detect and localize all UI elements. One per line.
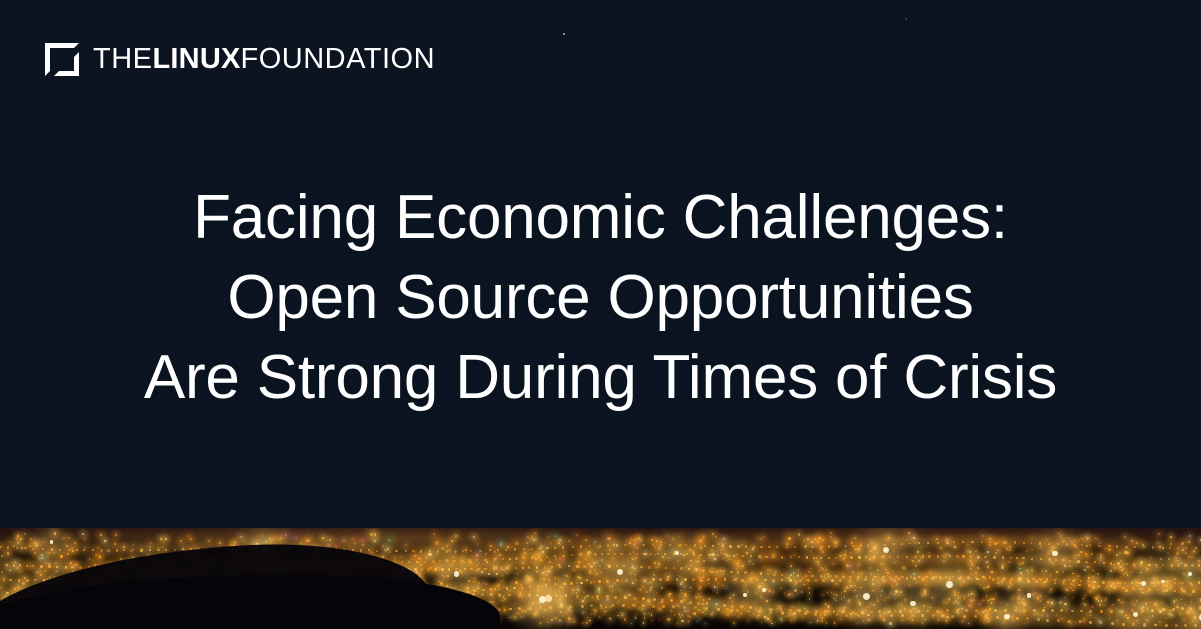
page-title-line-1: Facing Economic Challenges: [0, 178, 1201, 258]
page-title-line-3: Are Strong During Times of Crisis [0, 338, 1201, 418]
social-share-card: THELINUXFOUNDATION Facing Economic Chall… [0, 0, 1201, 629]
wordmark-foundation: FOUNDATION [241, 43, 436, 75]
wordmark-the: THE [93, 43, 153, 75]
linux-foundation-logo[interactable]: THELINUXFOUNDATION [45, 38, 435, 80]
star-icon [905, 18, 907, 20]
wordmark-linux: LINUX [153, 43, 241, 75]
page-title: Facing Economic Challenges: Open Source … [0, 178, 1201, 418]
linux-foundation-wordmark: THELINUXFOUNDATION [93, 45, 435, 74]
star-icon [563, 33, 565, 35]
page-title-line-2: Open Source Opportunities [0, 258, 1201, 338]
linux-foundation-square-mark-icon [45, 43, 79, 76]
